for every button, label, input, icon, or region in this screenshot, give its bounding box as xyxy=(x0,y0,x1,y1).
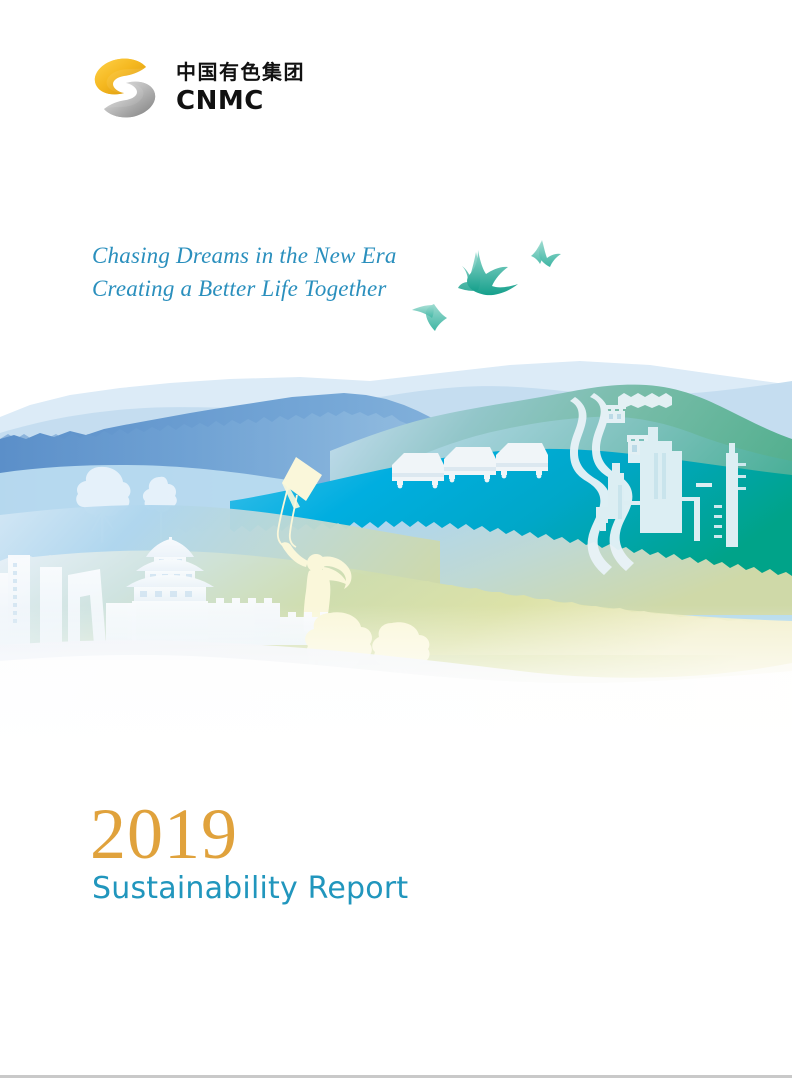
report-cover-page: 中国有色集团 CNMC Chasing Dreams in the New Er… xyxy=(0,0,792,1078)
company-logo: 中国有色集团 CNMC xyxy=(88,55,305,121)
tagline-line-2: Creating a Better Life Together xyxy=(92,273,397,306)
cnmc-s-logo-icon xyxy=(88,55,162,121)
report-year: 2019 xyxy=(90,798,238,870)
logo-wordmark: 中国有色集团 CNMC xyxy=(176,62,305,114)
logo-chinese-name: 中国有色集团 xyxy=(176,62,305,82)
wall-watchtower xyxy=(604,405,626,423)
flying-birds-icon xyxy=(400,222,570,342)
watercolor-landscape-illustration xyxy=(0,355,792,755)
cover-tagline: Chasing Dreams in the New Era Creating a… xyxy=(92,240,397,305)
tagline-line-1: Chasing Dreams in the New Era xyxy=(92,240,397,273)
logo-english-name: CNMC xyxy=(176,88,305,114)
report-subtitle: Sustainability Report xyxy=(92,874,408,904)
